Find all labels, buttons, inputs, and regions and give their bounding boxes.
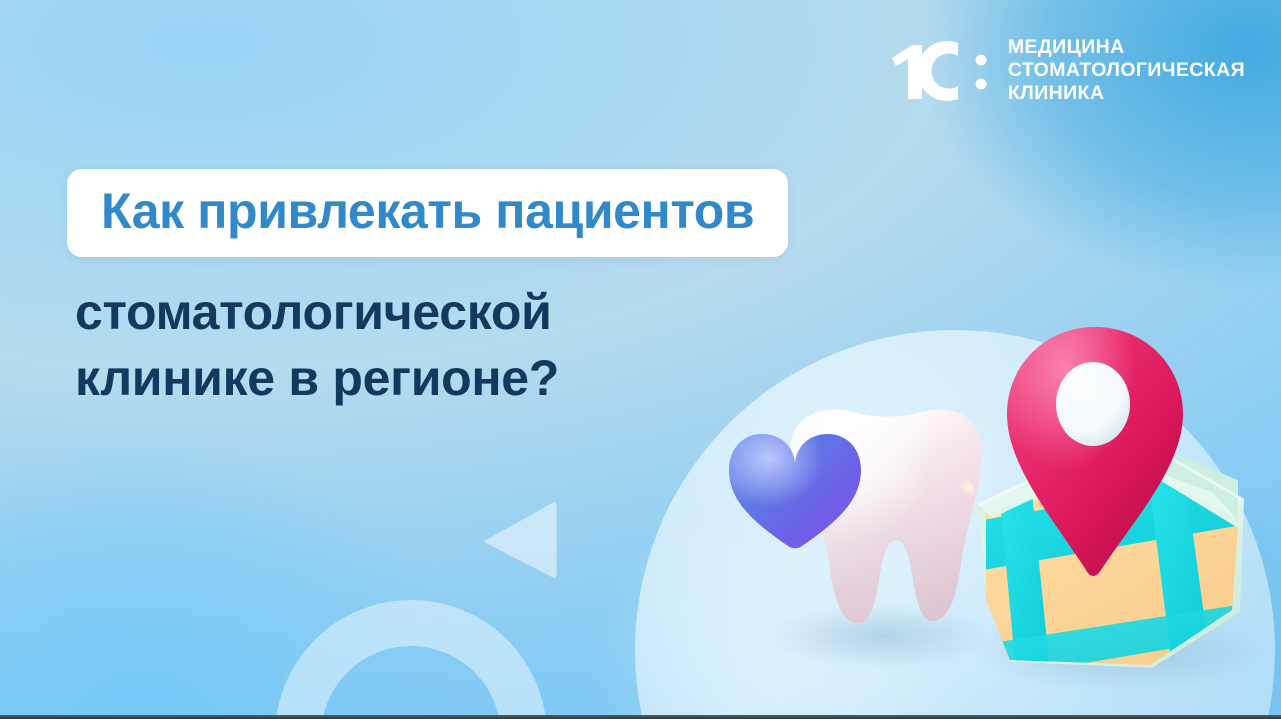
slide-stage: МЕДИЦИНА СТОМАТОЛОГИЧЕСКАЯ КЛИНИКА Как п… [0, 0, 1281, 719]
headline-line-2: стоматологической [75, 279, 1062, 345]
brand-line-1: МЕДИЦИНА [1008, 36, 1245, 59]
colon-dots-icon [975, 54, 986, 65]
player-bottom-edge [0, 715, 1281, 719]
headline-highlight-box: Как привлекать пациентов [67, 169, 788, 257]
headline-line-3: клинике в регионе? [75, 345, 1062, 411]
brand-line-3: КЛИНИКА [1008, 82, 1245, 105]
headline-line-1: Как привлекать пациентов [101, 186, 754, 236]
brand-logo[interactable]: МЕДИЦИНА СТОМАТОЛОГИЧЕСКАЯ КЛИНИКА [888, 36, 1245, 105]
brand-line-2: СТОМАТОЛОГИЧЕСКАЯ [1008, 59, 1245, 82]
brand-logo-words: МЕДИЦИНА СТОМАТОЛОГИЧЕСКАЯ КЛИНИКА [1008, 36, 1245, 105]
headline-plain-lines: стоматологической клинике в регионе? [67, 279, 1062, 411]
headline: Как привлекать пациентов стоматологическ… [67, 169, 1062, 411]
one-c-mark-icon [888, 39, 992, 103]
